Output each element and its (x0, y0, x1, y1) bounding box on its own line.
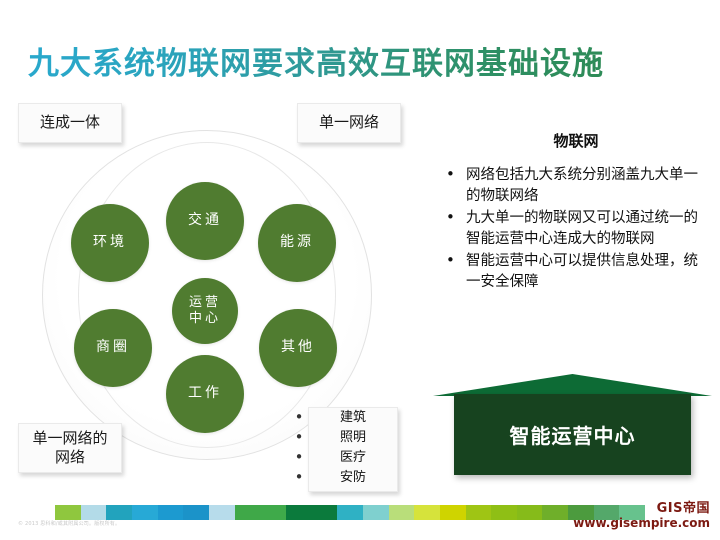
callout-label: 单一网络 (319, 113, 379, 133)
logo-url: www.gisempire.com (573, 516, 710, 530)
panel-bullet-item: 网络包括九大系统分别涵盖九大单一的物联网络 (440, 165, 712, 207)
bullet-icon: • (292, 427, 306, 447)
node-label: 其他 (281, 339, 315, 357)
callout-label-wrapper: 单一网络的 网络 (32, 429, 107, 468)
footer-bar-segment (466, 505, 492, 520)
callout-domain-list: 建筑 照明 医疗 安防 (308, 407, 398, 492)
footer-bar-segment (286, 505, 312, 520)
node-other[interactable]: 其他 (259, 309, 337, 387)
bullet-icon: • (292, 467, 306, 487)
footer-bar-segment (106, 505, 132, 520)
footer-bar-segment (55, 505, 81, 520)
node-business-district[interactable]: 商圈 (74, 309, 152, 387)
footer-bar-segment (260, 505, 286, 520)
footer-bar-segment (209, 505, 235, 520)
footer-bar-segment (158, 505, 184, 520)
footer-bar-segment (414, 505, 440, 520)
bullet-icon: • (292, 447, 306, 467)
footer-bar-segment (440, 505, 466, 520)
node-transportation[interactable]: 交通 (166, 182, 244, 260)
callout-single-network: 单一网络 (297, 103, 401, 143)
node-label: 环境 (93, 234, 127, 252)
operations-center-banner: 智能运营中心 (433, 374, 712, 476)
node-label-line2: 中心 (189, 311, 221, 326)
footer-bar-segment (312, 505, 338, 520)
footer-bar-segment (491, 505, 517, 520)
footer-bar-segment (542, 505, 568, 520)
footer-bar-segment (363, 505, 389, 520)
list-item: 安防 (309, 468, 397, 488)
node-environment[interactable]: 环境 (71, 204, 149, 282)
callout-connected-as-one: 连成一体 (18, 103, 122, 143)
node-work[interactable]: 工作 (166, 355, 244, 433)
page-title: 九大系统物联网要求高效互联网基础设施 (28, 38, 604, 83)
list-item: 医疗 (309, 448, 397, 468)
bullet-icon: • (292, 407, 306, 427)
iot-circle-diagram: 交通 环境 能源 商圈 其他 工作 运营 中心 连成一体 单一网络 单一网络的 … (0, 90, 440, 502)
panel-heading: 物联网 (440, 130, 712, 151)
node-energy[interactable]: 能源 (258, 204, 336, 282)
node-label: 能源 (280, 234, 314, 252)
footer-bar-segment (337, 505, 363, 520)
callout-list-bullets: • • • • (292, 407, 306, 487)
footer-bar-segment (389, 505, 415, 520)
footer-bar-segment (81, 505, 107, 520)
gis-empire-logo[interactable]: GIS帝国 www.gisempire.com (573, 501, 710, 530)
panel-bullet-item: 智能运营中心可以提供信息处理，统一安全保障 (440, 251, 712, 293)
footer-bar-segment (517, 505, 543, 520)
banner-box: 智能运营中心 (454, 394, 691, 475)
list-item: 建筑 (309, 408, 397, 428)
footer-bar-segment (132, 505, 158, 520)
node-operations-center[interactable]: 运营 中心 (172, 278, 238, 344)
node-label-wrapper: 运营 中心 (189, 295, 221, 328)
list-item: 照明 (309, 428, 397, 448)
banner-label: 智能运营中心 (510, 420, 636, 449)
node-label: 工作 (188, 385, 222, 403)
callout-label-line1: 单一网络的 (32, 429, 107, 447)
node-label-line1: 运营 (189, 295, 221, 310)
footer-bar-segment (183, 505, 209, 520)
callout-label: 连成一体 (40, 113, 100, 133)
iot-description-panel: 物联网 网络包括九大系统分别涵盖九大单一的物联网络 九大单一的物联网又可以通过统… (440, 130, 712, 294)
up-arrow-icon (433, 374, 712, 396)
panel-bullet-list: 网络包括九大系统分别涵盖九大单一的物联网络 九大单一的物联网又可以通过统一的智能… (440, 165, 712, 293)
callout-network-of-single-networks: 单一网络的 网络 (18, 423, 122, 473)
callout-label-line2: 网络 (55, 448, 85, 466)
copyright-text: © 2013 思科和/或其附属公司。版权所有。 (18, 520, 120, 527)
node-label: 交通 (188, 212, 222, 230)
footer-color-bar (55, 505, 645, 520)
footer-bar-segment (235, 505, 261, 520)
panel-bullet-item: 九大单一的物联网又可以通过统一的智能运营中心连成大的物联网 (440, 208, 712, 250)
node-label: 商圈 (96, 339, 130, 357)
logo-mark: GIS帝国 (573, 501, 710, 516)
